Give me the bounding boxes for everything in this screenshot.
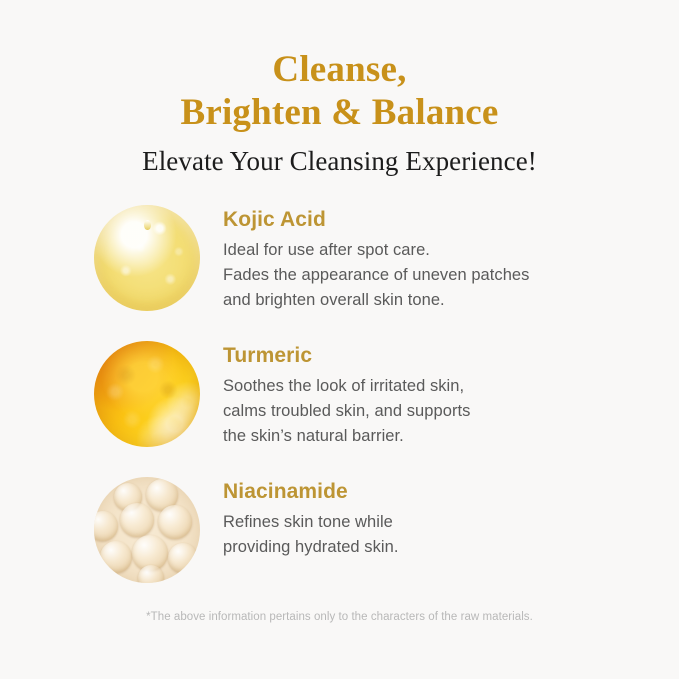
description-line: Soothes the look of irritated skin, — [223, 374, 470, 399]
page-subtitle: Elevate Your Cleansing Experience! — [0, 145, 679, 177]
ingredient-list: Kojic Acid Ideal for use after spot care… — [0, 203, 679, 583]
bubble-shape — [158, 505, 192, 539]
swatch-wrapper — [93, 475, 201, 583]
description-line: Ideal for use after spot care. — [223, 238, 529, 263]
kojic-acid-gel-swatch — [94, 205, 200, 311]
swatch-wrapper — [93, 339, 201, 447]
bubble-shape — [100, 541, 132, 573]
bubble-shape — [168, 543, 198, 573]
description-line: Fades the appearance of uneven patches — [223, 263, 529, 288]
ingredient-description: Soothes the look of irritated skin, calm… — [223, 374, 470, 449]
ingredient-description: Ideal for use after spot care. Fades the… — [223, 238, 529, 313]
bubble-shape — [94, 511, 118, 541]
swatch-wrapper — [93, 203, 201, 311]
turmeric-powder-swatch — [94, 341, 200, 447]
ingredient-text-block: Kojic Acid Ideal for use after spot care… — [201, 203, 529, 313]
page-title: Cleanse, Brighten & Balance — [0, 48, 679, 134]
description-line: and brighten overall skin tone. — [223, 288, 529, 313]
ingredient-name: Turmeric — [223, 343, 470, 369]
description-line: the skin’s natural barrier. — [223, 424, 470, 449]
description-line: Refines skin tone while — [223, 510, 398, 535]
page-title-line-1: Cleanse, — [0, 48, 679, 91]
ingredient-text-block: Niacinamide Refines skin tone while prov… — [201, 475, 398, 560]
ingredient-text-block: Turmeric Soothes the look of irritated s… — [201, 339, 470, 449]
footnote-disclaimer: *The above information pertains only to … — [0, 609, 679, 625]
ingredient-name: Kojic Acid — [223, 207, 529, 233]
ingredient-name: Niacinamide — [223, 479, 398, 505]
ingredient-description: Refines skin tone while providing hydrat… — [223, 510, 398, 560]
niacinamide-bubbles-swatch — [94, 477, 200, 583]
ingredient-item-niacinamide: Niacinamide Refines skin tone while prov… — [0, 475, 679, 583]
description-line: providing hydrated skin. — [223, 535, 398, 560]
page-title-line-2: Brighten & Balance — [0, 91, 679, 134]
ingredient-item-turmeric: Turmeric Soothes the look of irritated s… — [0, 339, 679, 449]
header: Cleanse, Brighten & Balance Elevate Your… — [0, 0, 679, 177]
bubble-shape — [120, 503, 154, 537]
description-line: calms troubled skin, and supports — [223, 399, 470, 424]
infographic-page: Cleanse, Brighten & Balance Elevate Your… — [0, 0, 679, 679]
ingredient-item-kojic-acid: Kojic Acid Ideal for use after spot care… — [0, 203, 679, 313]
